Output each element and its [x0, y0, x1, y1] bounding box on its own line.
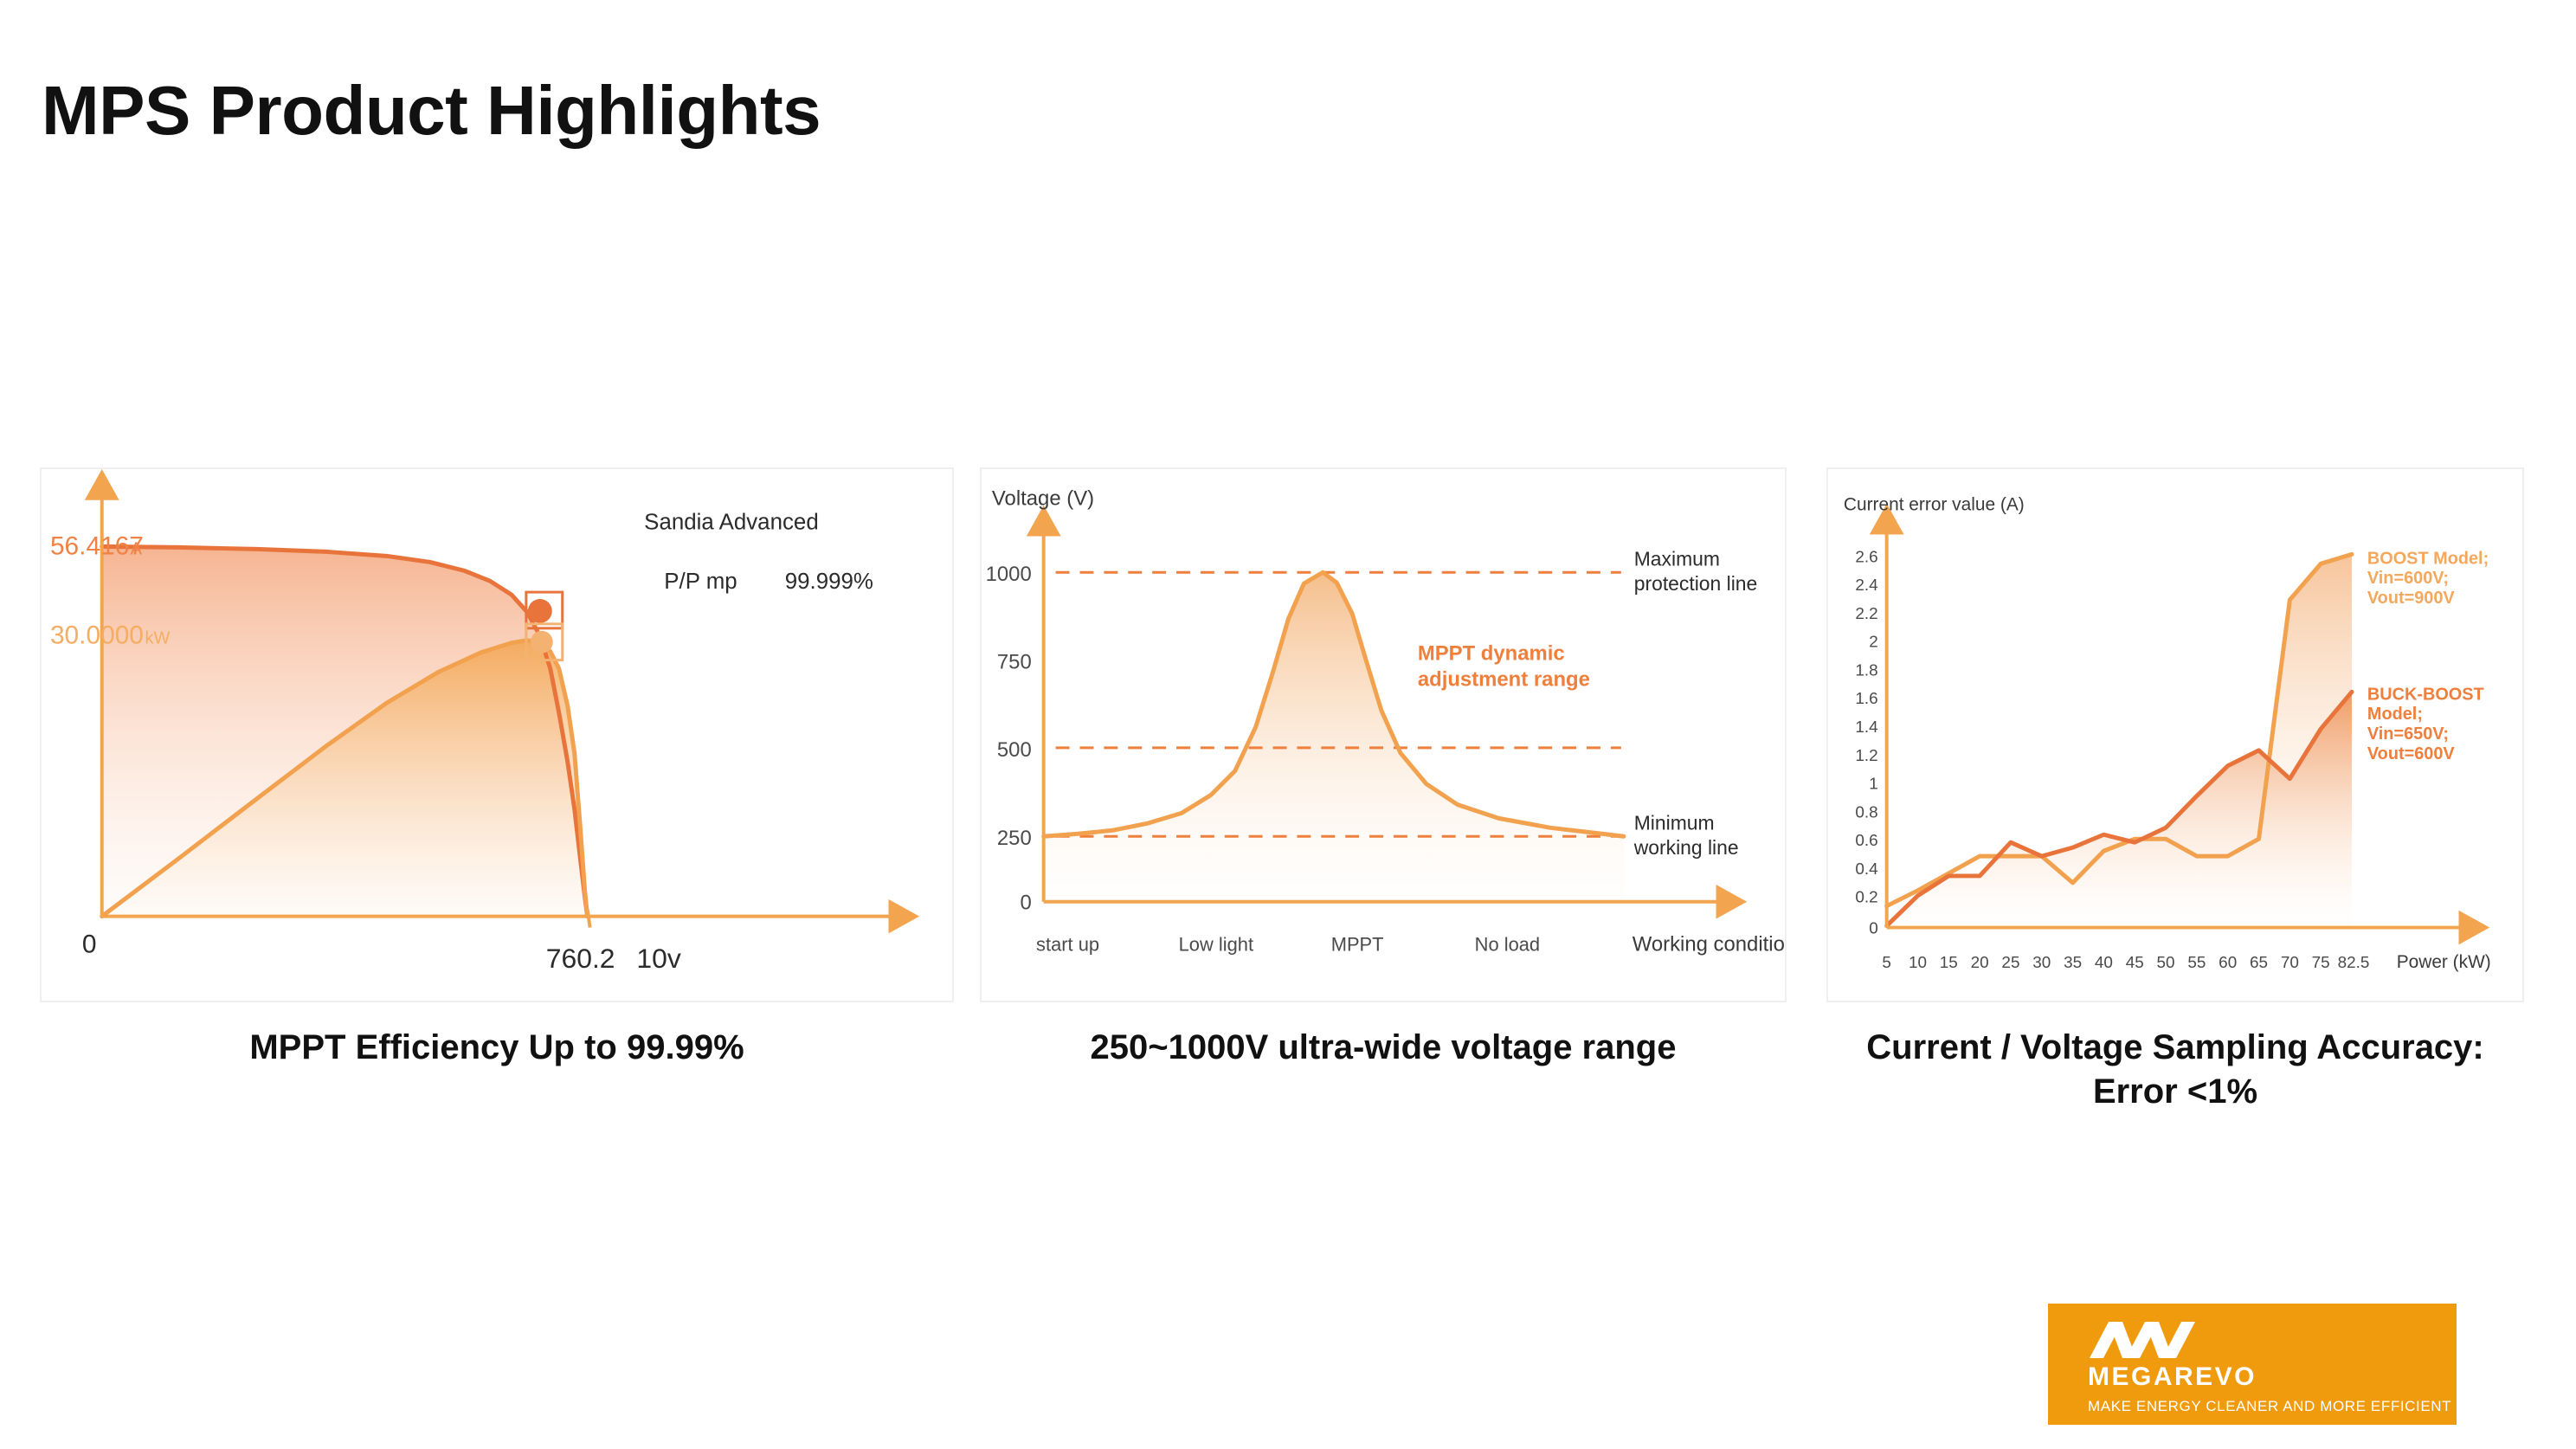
x-tick-75: 75	[2312, 954, 2330, 972]
mppt-range-label-line1: MPPT dynamic	[1418, 642, 1565, 666]
y-tick-1-4: 1.4	[1855, 718, 1877, 737]
legend-boost-line3: Vout=900V	[2367, 589, 2456, 608]
y-tick-0-4: 0.4	[1855, 860, 1877, 879]
y-tick-500: 500	[997, 738, 1032, 762]
page-title: MPS Product Highlights	[42, 76, 821, 145]
y-tick-0: 0	[1869, 920, 1878, 938]
x-tick-lowlight: Low light	[1179, 933, 1253, 955]
mppt-range-label-line2: adjustment range	[1418, 667, 1590, 691]
y-tick-250: 250	[997, 827, 1032, 850]
y-tick-2-4: 2.4	[1855, 576, 1877, 595]
legend-buck-line4: Vout=600V	[2367, 744, 2456, 763]
y-tick-2-6: 2.6	[1855, 548, 1877, 566]
caption-sampling-accuracy-line1: Current / Voltage Sampling Accuracy:	[1826, 1026, 2524, 1070]
megarevo-logo-icon	[2088, 1319, 2200, 1361]
chart-panel-sampling-accuracy: Current error value (A) Power (kW) 2.6 2…	[1826, 467, 2524, 1002]
chart-panel-voltage-range: 1000 750 500 250 0 Voltage (V) Working c…	[980, 467, 1787, 1002]
x-tick-60: 60	[2219, 954, 2237, 972]
voc-tick	[588, 910, 590, 928]
legend-buck-line1: BUCK-BOOST	[2367, 685, 2484, 704]
logo-wordmark: MEGAREVO	[2088, 1364, 2257, 1390]
y-power-value: 30.0000	[50, 621, 144, 650]
chart-panel-mppt-efficiency: Sandia Advanced P/P mp 99.999% 56.4167 A…	[40, 467, 954, 1002]
x-tick-82-5: 82.5	[2338, 954, 2370, 972]
x-tick-5: 5	[1882, 954, 1891, 972]
mpp-power-marker-dot	[531, 631, 553, 654]
x-tick-10: 10	[1909, 954, 1927, 972]
y-tick-1-0: 1	[1869, 776, 1878, 794]
y-tick-1-2: 1.2	[1855, 747, 1877, 765]
x-tick-65: 65	[2250, 954, 2268, 972]
sampling-accuracy-chart: Current error value (A) Power (kW) 2.6 2…	[1828, 469, 2522, 1001]
legend-boost-line2: Vin=600V;	[2367, 569, 2449, 588]
x-tick-30: 30	[2032, 954, 2051, 972]
x-tick-50: 50	[2157, 954, 2175, 972]
x-tick-startup: start up	[1036, 933, 1099, 955]
mppt-efficiency-chart: Sandia Advanced P/P mp 99.999% 56.4167 A…	[42, 469, 952, 1001]
x-tick-55: 55	[2187, 954, 2206, 972]
origin-label: 0	[82, 930, 97, 958]
y-power-unit: kW	[145, 629, 171, 648]
chart-captions-row: MPPT Efficiency Up to 99.99% 250~1000V u…	[40, 1026, 2538, 1138]
x-tick-45: 45	[2126, 954, 2144, 972]
max-protection-label-line2: protection line	[1634, 572, 1757, 595]
x-tick-15: 15	[1940, 954, 1958, 972]
sandia-advanced-label: Sandia Advanced	[644, 511, 819, 535]
charts-row: Sandia Advanced P/P mp 99.999% 56.4167 A…	[40, 467, 2538, 1004]
max-protection-label-line1: Maximum	[1634, 547, 1720, 570]
x-voc-value: 760.2	[546, 943, 615, 974]
y-axis-title: Voltage (V)	[992, 487, 1094, 511]
legend-buck-line3: Vin=650V;	[2367, 724, 2449, 744]
min-working-label-line1: Minimum	[1634, 811, 1715, 834]
caption-mppt-efficiency: MPPT Efficiency Up to 99.99%	[40, 1026, 954, 1070]
x-tick-40: 40	[2095, 954, 2113, 972]
y-tick-1000: 1000	[986, 563, 1032, 586]
caption-sampling-accuracy: Current / Voltage Sampling Accuracy: Err…	[1826, 1026, 2524, 1114]
y-current-unit: A	[131, 539, 143, 558]
x-tick-mppt: MPPT	[1331, 933, 1384, 955]
y-tick-0-6: 0.6	[1855, 832, 1877, 850]
y-tick-0-2: 0.2	[1855, 889, 1877, 907]
y-tick-1-8: 1.8	[1855, 661, 1877, 679]
legend-boost-line1: BOOST Model;	[2367, 549, 2489, 568]
legend-buck-line2: Model;	[2367, 705, 2423, 724]
y-tick-2-2: 2.2	[1855, 605, 1877, 623]
caption-voltage-range: 250~1000V ultra-wide voltage range	[980, 1026, 1787, 1070]
mpp-current-marker-dot	[528, 599, 552, 623]
y-tick-750: 750	[997, 651, 1032, 674]
y-axis-title: Current error value (A)	[1844, 495, 2025, 515]
y-tick-1-6: 1.6	[1855, 690, 1877, 708]
x-voc-unit: 10v	[636, 943, 680, 974]
ppmp-label: P/P mp	[664, 570, 737, 594]
mppt-range-area	[1044, 572, 1624, 902]
x-tick-35: 35	[2064, 954, 2082, 972]
ppmp-value: 99.999%	[785, 570, 873, 594]
voltage-range-chart: 1000 750 500 250 0 Voltage (V) Working c…	[982, 469, 1785, 1001]
x-tick-20: 20	[1971, 954, 1989, 972]
min-working-label-line2: working line	[1633, 836, 1739, 859]
x-axis-title: Power (kW)	[2397, 952, 2491, 972]
y-tick-2-0: 2	[1869, 634, 1878, 652]
y-tick-0-8: 0.8	[1855, 803, 1877, 821]
caption-sampling-accuracy-line2: Error <1%	[1826, 1070, 2524, 1114]
x-tick-noload: No load	[1475, 933, 1540, 955]
brand-logo-block: MEGAREVO MAKE ENERGY CLEANER AND MORE EF…	[2048, 1304, 2457, 1425]
x-axis-title: Working conditions	[1633, 932, 1785, 956]
y-tick-0: 0	[1020, 892, 1031, 915]
logo-tagline: MAKE ENERGY CLEANER AND MORE EFFICIENT	[2088, 1399, 2451, 1414]
x-tick-25: 25	[2001, 954, 2019, 972]
x-tick-70: 70	[2281, 954, 2299, 972]
